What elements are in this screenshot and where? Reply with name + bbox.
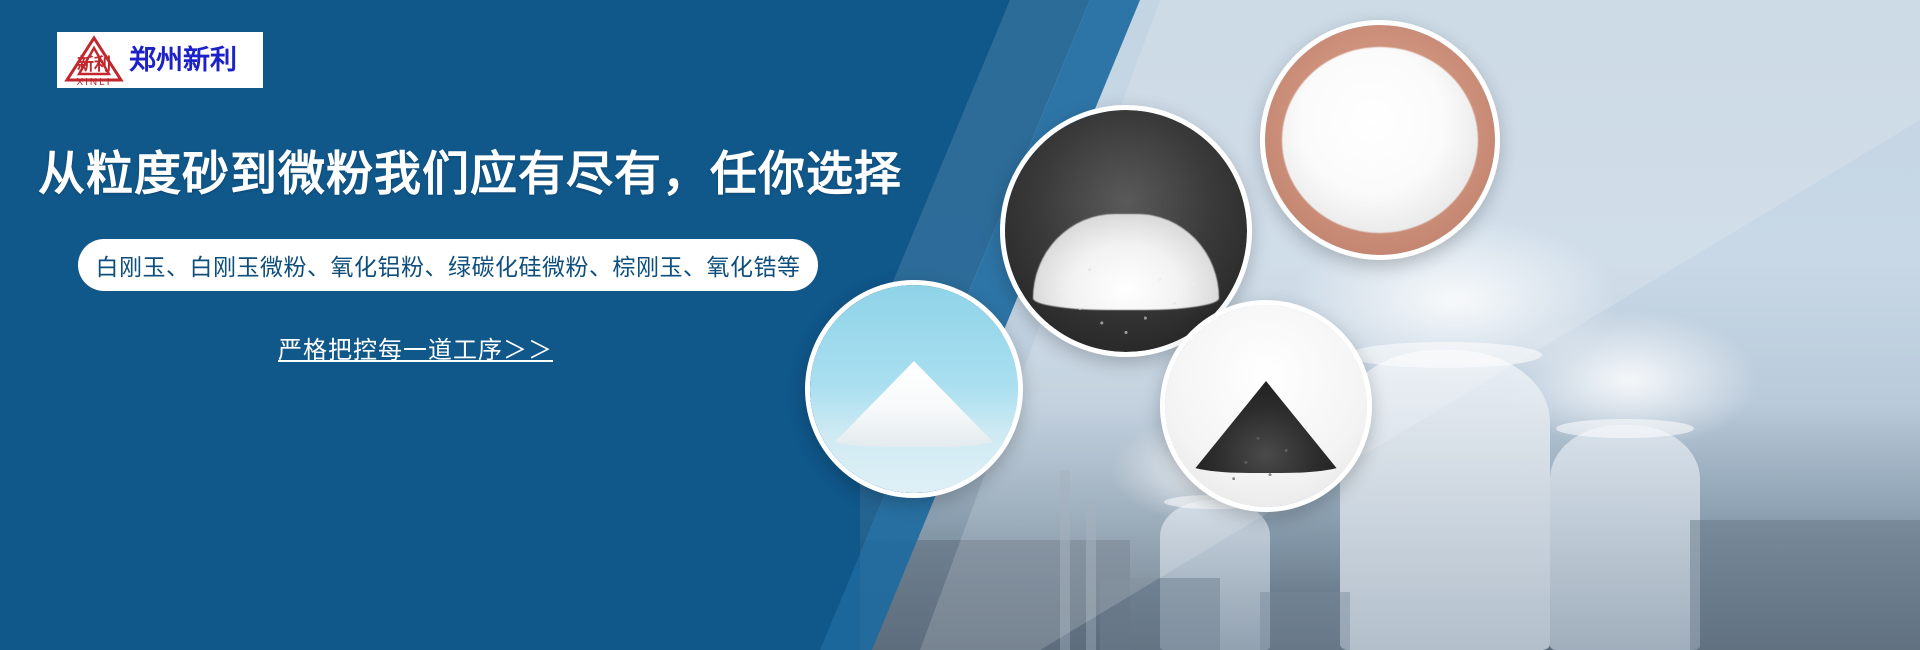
product-list-pill: 白刚玉、白刚玉微粉、氧化铝粉、绿碳化硅微粉、棕刚玉、氧化锆等 — [78, 239, 818, 291]
page-title: 从粒度砂到微粉我们应有尽有，任你选择 — [38, 146, 902, 201]
cta-link[interactable]: 严格把控每一道工序＞＞ — [278, 330, 553, 365]
product-photo-white-powder-bowl — [1260, 20, 1500, 260]
product-list-text: 白刚玉、白刚玉微粉、氧化铝粉、绿碳化硅微粉、棕刚玉、氧化锆等 — [96, 248, 801, 282]
svg-text:XINLI: XINLI — [76, 77, 111, 86]
hero-banner: 新利 XINLI 郑州新利 从粒度砂到微粉我们应有尽有，任你选择 白刚玉、白刚玉… — [0, 0, 1920, 650]
product-photo-black-grit — [1160, 300, 1372, 512]
factory-building-shape — [1690, 520, 1920, 650]
company-logo[interactable]: 新利 XINLI 郑州新利 — [57, 32, 263, 88]
product-photo-powder-cone — [805, 280, 1023, 498]
cooling-tower-icon — [1550, 425, 1700, 650]
xinli-triangle-icon: 新利 XINLI — [63, 34, 125, 86]
factory-building-shape — [1260, 592, 1350, 650]
logo-company-name: 郑州新利 — [129, 47, 237, 74]
svg-text:新利: 新利 — [77, 54, 111, 74]
